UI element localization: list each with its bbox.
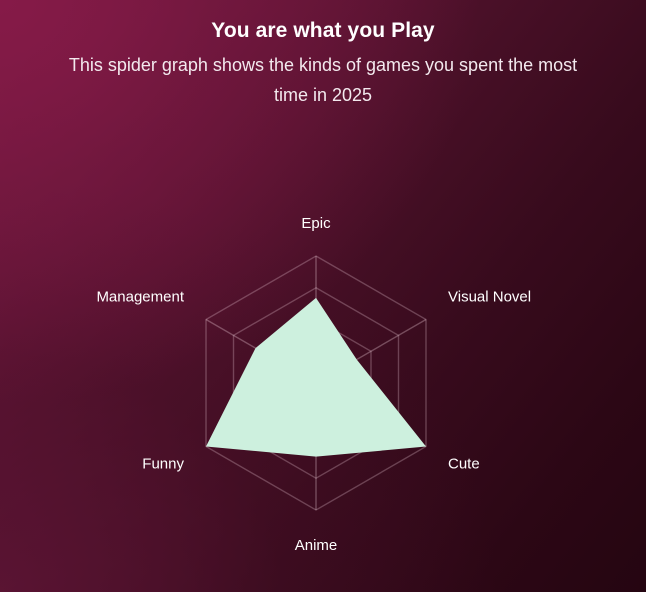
chart-header: You are what you Play This spider graph … [0, 0, 646, 110]
page-subtitle: This spider graph shows the kinds of gam… [63, 44, 583, 110]
axis-label-visual-novel: Visual Novel [448, 289, 531, 306]
radar-chart-svg: EpicVisual NovelCuteAnimeFunnyManagement [0, 140, 646, 580]
radar-chart: EpicVisual NovelCuteAnimeFunnyManagement [0, 140, 646, 580]
page-title: You are what you Play [0, 0, 646, 44]
axis-label-epic: Epic [301, 215, 331, 232]
radar-series-polygon [206, 298, 426, 457]
axis-label-management: Management [96, 289, 184, 306]
axis-label-anime: Anime [295, 537, 338, 554]
axis-label-funny: Funny [142, 456, 184, 473]
infographic-card: You are what you Play This spider graph … [0, 0, 646, 592]
axis-label-cute: Cute [448, 456, 480, 473]
